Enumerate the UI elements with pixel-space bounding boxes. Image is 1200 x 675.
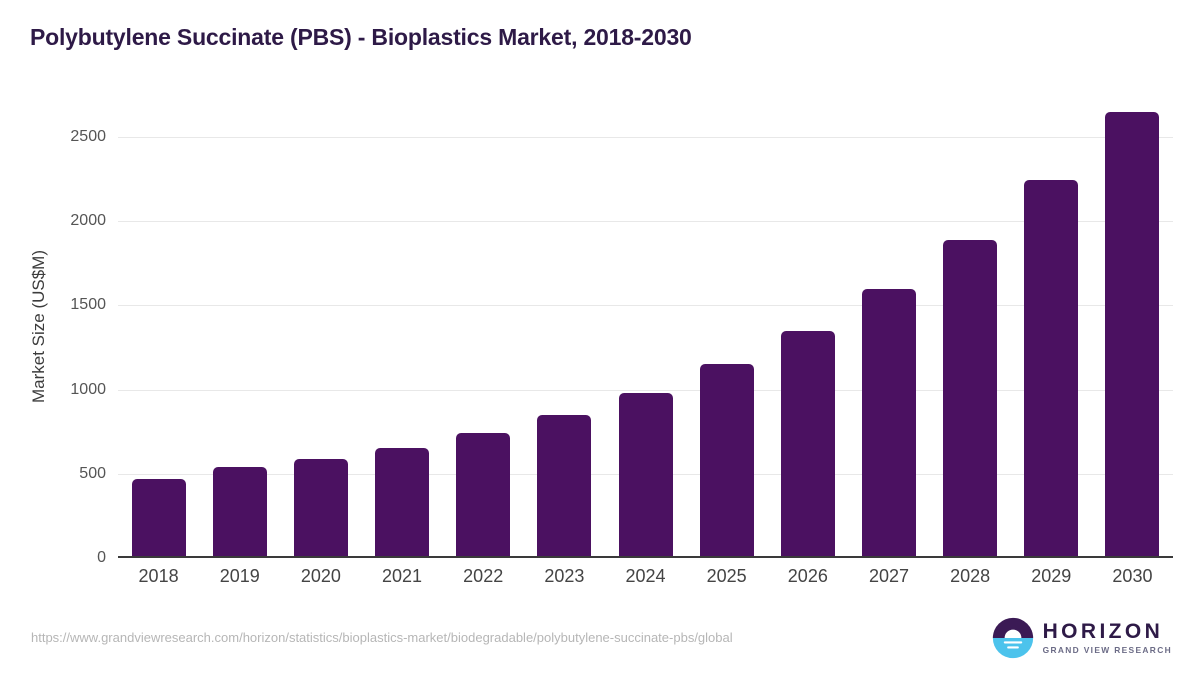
- bar-slot: [848, 95, 929, 558]
- x-tick-label: 2024: [605, 566, 686, 587]
- plot-area: 05001000150020002500: [118, 95, 1173, 558]
- bar-2020[interactable]: [294, 459, 348, 558]
- y-tick-label: 500: [16, 465, 106, 483]
- bar-2023[interactable]: [537, 415, 591, 558]
- bar-2030[interactable]: [1105, 112, 1159, 558]
- bar-slot: [1011, 95, 1092, 558]
- bar-series: [118, 95, 1173, 558]
- bar-2018[interactable]: [132, 479, 186, 558]
- horizon-logo-icon: [992, 617, 1034, 659]
- logo-tagline: GRAND VIEW RESEARCH: [1043, 645, 1172, 655]
- x-tick-label: 2025: [686, 566, 767, 587]
- y-tick-label: 2500: [16, 128, 106, 146]
- x-tick-label: 2019: [199, 566, 280, 587]
- x-tick-label: 2022: [443, 566, 524, 587]
- x-tick-label: 2021: [361, 566, 442, 587]
- bar-slot: [361, 95, 442, 558]
- y-tick-label: 2000: [16, 212, 106, 230]
- page-title: Polybutylene Succinate (PBS) - Bioplasti…: [30, 24, 692, 51]
- bar-2028[interactable]: [943, 240, 997, 558]
- bar-2026[interactable]: [781, 331, 835, 558]
- x-tick-label: 2028: [930, 566, 1011, 587]
- bar-slot: [199, 95, 280, 558]
- bar-2029[interactable]: [1024, 180, 1078, 558]
- y-axis-title: Market Size (US$M): [28, 95, 50, 558]
- x-axis-tick-labels: 2018201920202021202220232024202520262027…: [118, 566, 1173, 587]
- x-tick-label: 2030: [1092, 566, 1173, 587]
- bar-2027[interactable]: [862, 289, 916, 558]
- y-tick-label: 1500: [16, 296, 106, 314]
- horizon-logo[interactable]: HORIZON GRAND VIEW RESEARCH: [992, 616, 1172, 660]
- x-axis-line: [118, 556, 1173, 558]
- bar-slot: [605, 95, 686, 558]
- x-tick-label: 2023: [524, 566, 605, 587]
- bar-slot: [280, 95, 361, 558]
- y-tick-label: 1000: [16, 381, 106, 399]
- bar-slot: [118, 95, 199, 558]
- bar-slot: [524, 95, 605, 558]
- chart-page: Polybutylene Succinate (PBS) - Bioplasti…: [0, 0, 1200, 675]
- bar-slot: [686, 95, 767, 558]
- bar-2019[interactable]: [213, 467, 267, 558]
- source-url[interactable]: https://www.grandviewresearch.com/horizo…: [31, 630, 733, 645]
- bar-2021[interactable]: [375, 448, 429, 558]
- bar-2025[interactable]: [700, 364, 754, 558]
- bar-slot: [443, 95, 524, 558]
- x-tick-label: 2029: [1011, 566, 1092, 587]
- x-tick-label: 2027: [848, 566, 929, 587]
- x-tick-label: 2026: [767, 566, 848, 587]
- y-tick-label: 0: [16, 549, 106, 567]
- bar-slot: [767, 95, 848, 558]
- bar-2024[interactable]: [619, 393, 673, 558]
- horizon-logo-text: HORIZON GRAND VIEW RESEARCH: [1043, 621, 1172, 655]
- x-tick-label: 2018: [118, 566, 199, 587]
- logo-name: HORIZON: [1043, 621, 1172, 643]
- x-tick-label: 2020: [280, 566, 361, 587]
- bar-2022[interactable]: [456, 433, 510, 558]
- bar-slot: [930, 95, 1011, 558]
- bar-slot: [1092, 95, 1173, 558]
